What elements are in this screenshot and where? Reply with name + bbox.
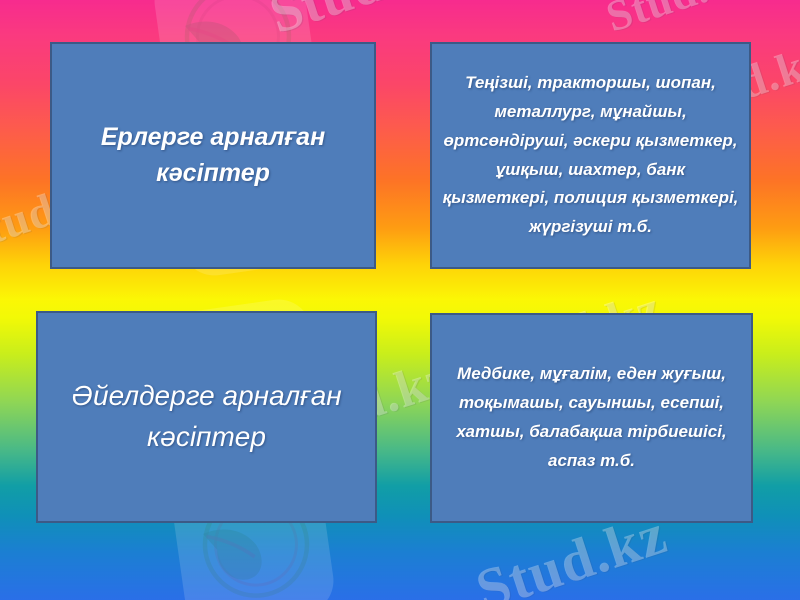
box-men-professions-list: Теңізші, тракторшы, шопан, металлург, мұ… xyxy=(430,42,751,269)
watermark-text: Stud.kz xyxy=(262,0,462,47)
box-men-professions-title-text: Ерлерге арналған кәсіптер xyxy=(52,120,374,191)
box-women-professions-title-text: Әйелдерге арналған кәсіптер xyxy=(38,376,375,457)
box-women-professions-title: Әйелдерге арналған кәсіптер xyxy=(36,311,377,523)
box-women-professions-list-text: Медбике, мұғалім, еден жуғыш, тоқымашы, … xyxy=(432,360,751,476)
slide-canvas: Stud.kz Stud.kz - Stud.kz Stud.kz - Stud… xyxy=(0,0,800,600)
box-men-professions-list-text: Теңізші, тракторшы, шопан, металлург, мұ… xyxy=(432,69,749,242)
box-men-professions-title: Ерлерге арналған кәсіптер xyxy=(50,42,376,269)
box-women-professions-list: Медбике, мұғалім, еден жуғыш, тоқымашы, … xyxy=(430,313,753,523)
watermark-text: Stud.kz xyxy=(600,0,758,43)
